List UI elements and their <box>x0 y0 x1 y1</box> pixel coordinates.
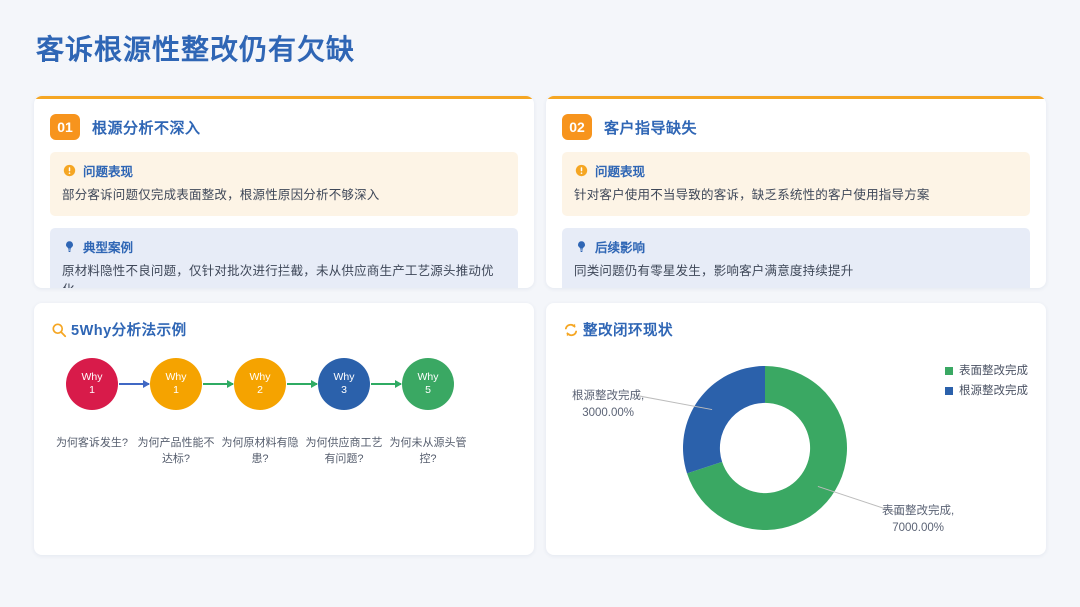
issue-block-heading-row: 后续影响 <box>574 237 1018 256</box>
legend-swatch <box>945 367 953 375</box>
issue-block-text: 同类问题仍有零星发生，影响客户满意度持续提升 <box>574 262 1018 281</box>
why-node-2[interactable]: Why 1 为何产品性能不达标? <box>132 358 220 468</box>
issue-number-badge: 02 <box>562 114 592 140</box>
issue-block-heading-row: 典型案例 <box>62 237 506 256</box>
why-node-number: 1 <box>173 384 179 397</box>
why-node-3[interactable]: Why 2 为何原材料有隐患? <box>216 358 304 468</box>
why-node-caption: Why <box>334 371 355 384</box>
donut-callout-name: 表面整改完成, <box>882 503 954 520</box>
why-node-label: 为何产品性能不达标? <box>134 436 218 468</box>
legend-label: 表面整改完成 <box>959 361 1028 381</box>
donut-callout-root-cause: 根源整改完成, 3000.00% <box>572 388 644 421</box>
issue-card-02: 02 客户指导缺失 问题表现 针对客户使用不当导致的客诉，缺乏系统性的客户使用指… <box>546 96 1046 288</box>
issue-block-text: 部分客诉问题仅完成表面整改，根源性原因分析不够深入 <box>62 186 506 205</box>
issue-block-case: 典型案例 原材料隐性不良问题，仅针对批次进行拦截，未从供应商生产工艺源头推动优化 <box>50 228 518 288</box>
issue-block-heading: 问题表现 <box>595 161 645 180</box>
five-why-card: 5Why分析法示例 Why 1 为何客诉发生? Why 1 为何产品性能不达标?… <box>34 303 534 555</box>
issue-block-text: 原材料隐性不良问题，仅针对批次进行拦截，未从供应商生产工艺源头推动优化 <box>62 262 506 288</box>
issue-block-text: 针对客户使用不当导致的客诉，缺乏系统性的客户使用指导方案 <box>574 186 1018 205</box>
five-why-flow: Why 1 为何客诉发生? Why 1 为何产品性能不达标? Why 2 为何原… <box>34 358 534 543</box>
why-node-circle: Why 3 <box>318 358 370 410</box>
five-why-title: 5Why分析法示例 <box>71 319 187 340</box>
legend-item-root-cause[interactable]: 根源整改完成 <box>945 381 1028 401</box>
why-node-caption: Why <box>82 371 103 384</box>
why-node-label: 为何原材料有隐患? <box>218 436 302 468</box>
issue-card-01: 01 根源分析不深入 问题表现 部分客诉问题仅完成表面整改，根源性原因分析不够深… <box>34 96 534 288</box>
page-title: 客诉根源性整改仍有欠缺 <box>36 28 355 68</box>
issue-card-header: 01 根源分析不深入 <box>50 114 534 140</box>
card-accent-bar <box>546 96 1046 99</box>
issue-card-header: 02 客户指导缺失 <box>562 114 1046 140</box>
donut-callout-value: 3000.00% <box>572 405 644 422</box>
issue-block-heading: 问题表现 <box>83 161 133 180</box>
why-node-number: 3 <box>341 384 347 397</box>
issue-block-problem: 问题表现 部分客诉问题仅完成表面整改，根源性原因分析不够深入 <box>50 152 518 216</box>
why-node-caption: Why <box>418 371 439 384</box>
search-icon <box>50 321 67 338</box>
donut-callout-value: 7000.00% <box>882 520 954 537</box>
donut-callout-name: 根源整改完成, <box>572 388 644 405</box>
donut-legend: 表面整改完成 根源整改完成 <box>945 361 1028 401</box>
why-node-circle: Why 1 <box>150 358 202 410</box>
why-node-circle: Why 5 <box>402 358 454 410</box>
why-node-1[interactable]: Why 1 为何客诉发生? <box>48 358 136 452</box>
donut-slice[interactable] <box>683 366 765 473</box>
legend-label: 根源整改完成 <box>959 381 1028 401</box>
donut-chart: 根源整改完成, 3000.00% 表面整改完成, 7000.00% 表面整改完成… <box>546 333 1046 555</box>
why-node-label: 为何未从源头管控? <box>386 436 470 468</box>
why-node-label: 为何供应商工艺有问题? <box>302 436 386 468</box>
why-node-circle: Why 2 <box>234 358 286 410</box>
issue-block-heading-row: 问题表现 <box>62 161 506 180</box>
lightbulb-icon <box>574 239 588 253</box>
issue-card-title: 根源分析不深入 <box>92 117 201 138</box>
why-node-circle: Why 1 <box>66 358 118 410</box>
why-node-5[interactable]: Why 5 为何未从源头管控? <box>384 358 472 468</box>
issue-block-heading-row: 问题表现 <box>574 161 1018 180</box>
issue-number-badge: 01 <box>50 114 80 140</box>
lightbulb-icon <box>62 239 76 253</box>
why-node-label: 为何客诉发生? <box>50 436 134 452</box>
card-accent-bar <box>34 96 534 99</box>
why-node-4[interactable]: Why 3 为何供应商工艺有问题? <box>300 358 388 468</box>
why-node-number: 2 <box>257 384 263 397</box>
issue-block-impact: 后续影响 同类问题仍有零星发生，影响客户满意度持续提升 <box>562 228 1030 288</box>
alert-circle-icon <box>574 164 588 178</box>
closed-loop-chart-card: 整改闭环现状 根源整改完成, 3000.00% 表面整改完成, 7000.00%… <box>546 303 1046 555</box>
why-node-caption: Why <box>250 371 271 384</box>
legend-swatch <box>945 387 953 395</box>
issue-block-problem: 问题表现 针对客户使用不当导致的客诉，缺乏系统性的客户使用指导方案 <box>562 152 1030 216</box>
issue-block-heading: 后续影响 <box>595 237 645 256</box>
issue-card-title: 客户指导缺失 <box>604 117 697 138</box>
donut-callout-surface: 表面整改完成, 7000.00% <box>882 503 954 536</box>
why-node-number: 1 <box>89 384 95 397</box>
five-why-header: 5Why分析法示例 <box>50 319 534 340</box>
why-node-number: 5 <box>425 384 431 397</box>
alert-circle-icon <box>62 164 76 178</box>
issue-block-heading: 典型案例 <box>83 237 133 256</box>
why-node-caption: Why <box>166 371 187 384</box>
legend-item-surface[interactable]: 表面整改完成 <box>945 361 1028 381</box>
